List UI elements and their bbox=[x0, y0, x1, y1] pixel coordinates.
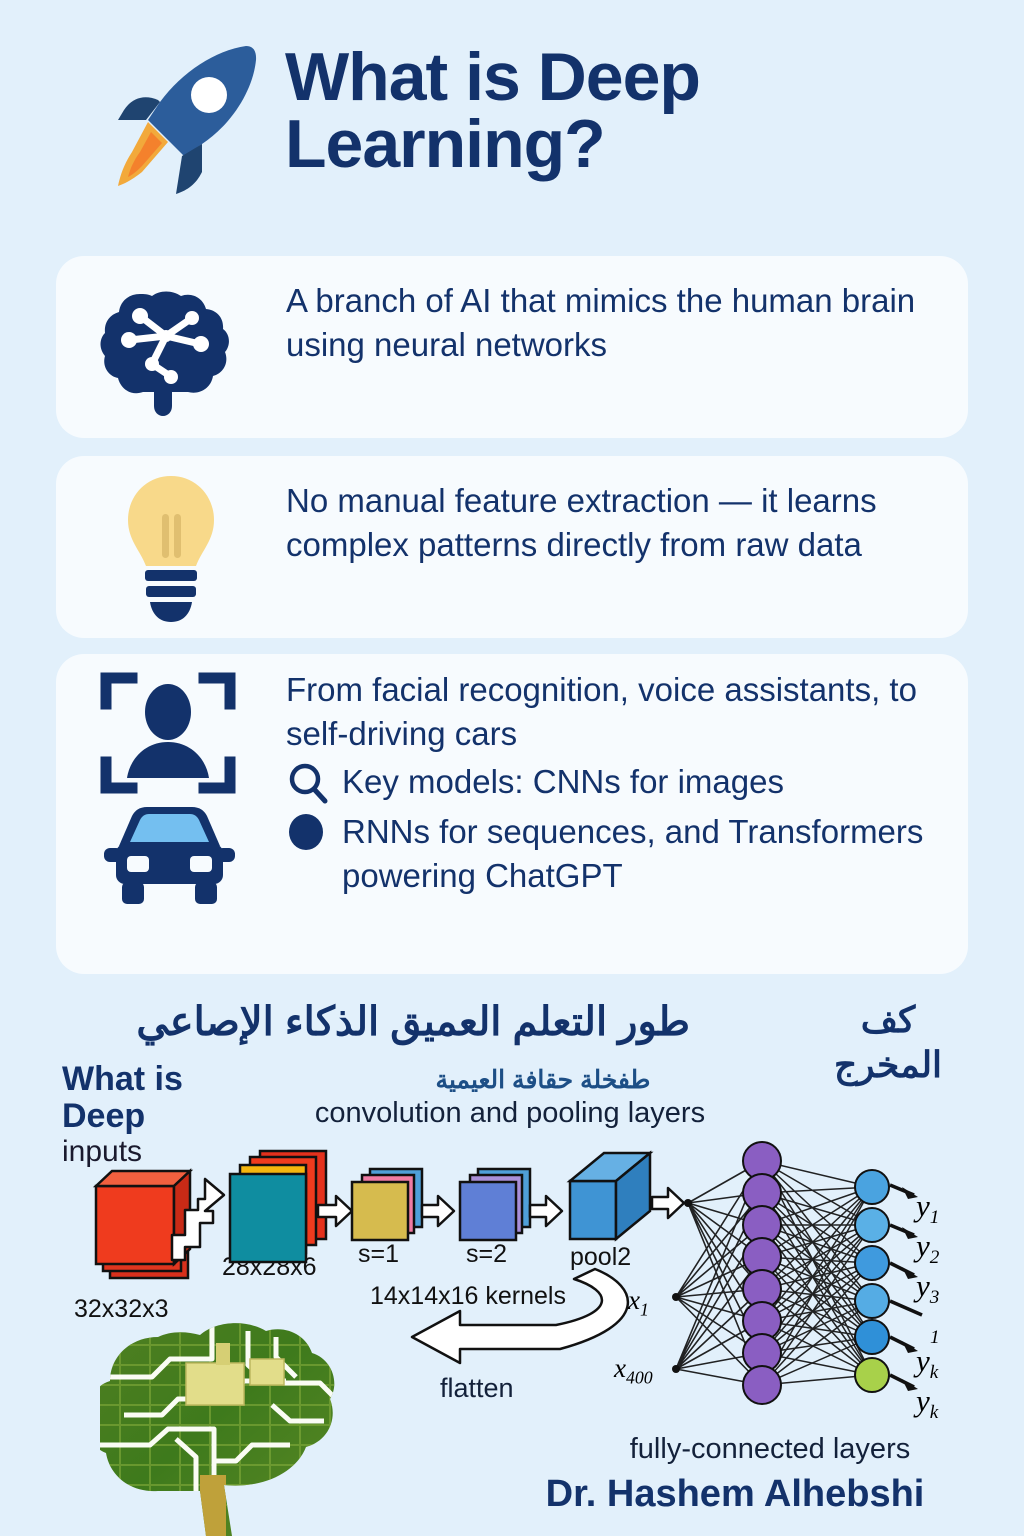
lightbulb-icon bbox=[116, 470, 226, 625]
car-icon bbox=[102, 804, 237, 909]
card-3-bullet-2: RNNs for sequences, and Transformers pow… bbox=[286, 810, 946, 898]
cnn-diagram-section: طور التعلم العميق الذكاء الإصاعي كف المخ… bbox=[0, 985, 1024, 1536]
input-cube bbox=[96, 1171, 190, 1278]
card-3-text: From facial recognition, voice assistant… bbox=[286, 668, 946, 898]
arrow-kernel2-to-pool bbox=[530, 1196, 562, 1226]
search-icon bbox=[286, 760, 328, 806]
face-recognition-icon bbox=[98, 668, 238, 798]
arrow-kernel1-to-kernel2 bbox=[422, 1196, 454, 1226]
dot-bullet-icon bbox=[286, 810, 328, 856]
card-3-bullet-1-text: Key models: CNNs for images bbox=[342, 760, 784, 804]
kernel-block-s1 bbox=[352, 1169, 422, 1240]
page-title: What is Deep Learning? bbox=[285, 44, 985, 177]
header: What is Deep Learning? bbox=[0, 0, 1024, 250]
fully-connected-network bbox=[672, 1142, 922, 1404]
arrow-pool-to-network bbox=[652, 1188, 684, 1218]
card-2-text: No manual feature extraction — it learns… bbox=[286, 479, 946, 567]
brain-circuit-icon bbox=[100, 1320, 350, 1536]
kernel-block-s2 bbox=[460, 1169, 530, 1240]
card-3-bullet-2-text: RNNs for sequences, and Transformers pow… bbox=[342, 810, 946, 898]
brain-network-icon bbox=[96, 278, 236, 418]
conv-block-1 bbox=[230, 1151, 326, 1262]
info-card-applications: From facial recognition, voice assistant… bbox=[56, 654, 968, 974]
page-title-line1: What is Deep bbox=[285, 44, 985, 111]
card-3-main-text: From facial recognition, voice assistant… bbox=[286, 668, 946, 756]
infographic-page: What is Deep Learning? bbox=[0, 0, 1024, 1536]
card-1-text: A branch of AI that mimics the human bra… bbox=[286, 279, 926, 367]
flatten-arrow bbox=[412, 1269, 628, 1363]
info-card-lightbulb: No manual feature extraction — it learns… bbox=[56, 456, 968, 638]
page-title-line2: Learning? bbox=[285, 111, 985, 178]
info-card-brain: A branch of AI that mimics the human bra… bbox=[56, 256, 968, 438]
pool2-cuboid bbox=[570, 1153, 650, 1239]
output-arrowheads bbox=[902, 1187, 918, 1391]
output-arrows bbox=[890, 1185, 922, 1387]
rocket-icon bbox=[96, 28, 276, 208]
card-3-bullet-1: Key models: CNNs for images bbox=[286, 760, 946, 806]
